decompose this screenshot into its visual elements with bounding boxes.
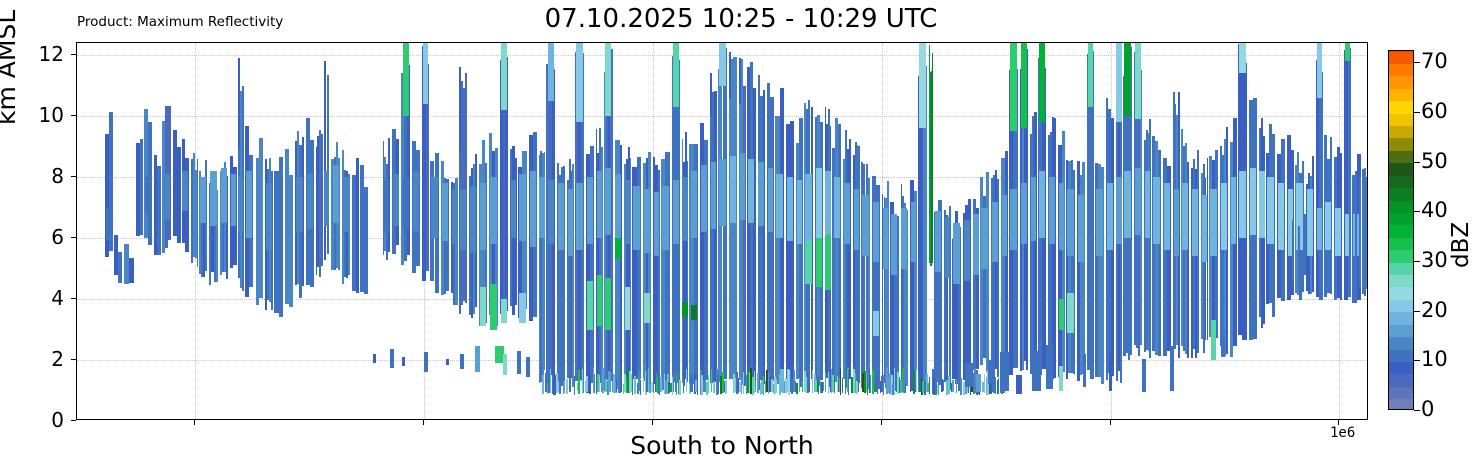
reflectivity-cell bbox=[799, 378, 800, 391]
y-tick-label: 2 bbox=[16, 349, 64, 369]
reflectivity-cell bbox=[1059, 299, 1064, 329]
reflectivity-cell bbox=[842, 378, 844, 393]
y-tick-mark bbox=[71, 176, 76, 177]
reflectivity-cell bbox=[877, 379, 878, 395]
reflectivity-cell bbox=[891, 214, 898, 275]
reflectivity-cell bbox=[324, 61, 326, 137]
reflectivity-cell bbox=[739, 58, 741, 104]
colorbar-tick-mark bbox=[1414, 410, 1420, 411]
reflectivity-cell bbox=[763, 90, 766, 384]
colorbar-tick-label: 0 bbox=[1421, 399, 1434, 420]
reflectivity-cell bbox=[574, 376, 575, 395]
reflectivity-cell bbox=[402, 357, 405, 366]
colorbar-label: dBZ bbox=[1449, 222, 1473, 268]
reflectivity-cell bbox=[1278, 183, 1284, 250]
reflectivity-cell bbox=[683, 375, 684, 393]
reflectivity-cell bbox=[413, 171, 419, 232]
reflectivity-cell bbox=[1124, 171, 1131, 238]
colorbar-tick-mark bbox=[1414, 162, 1420, 163]
reflectivity-cell bbox=[935, 211, 941, 272]
reflectivity-cell bbox=[1325, 202, 1332, 251]
reflectivity-cell bbox=[648, 152, 651, 389]
colorbar-band bbox=[1389, 88, 1413, 101]
reflectivity-cell bbox=[321, 134, 323, 267]
colorbar-band bbox=[1389, 250, 1413, 263]
reflectivity-cell bbox=[1202, 195, 1207, 262]
reflectivity-cell bbox=[644, 189, 650, 253]
reflectivity-cell bbox=[701, 165, 707, 232]
reflectivity-cell bbox=[938, 384, 939, 395]
reflectivity-cell bbox=[992, 202, 998, 263]
reflectivity-cell bbox=[952, 380, 954, 392]
reflectivity-cell bbox=[106, 208, 113, 242]
plot-area bbox=[76, 42, 1368, 420]
reflectivity-cell bbox=[1182, 183, 1189, 250]
colorbar-tick-label: 60 bbox=[1421, 101, 1448, 122]
reflectivity-cell bbox=[168, 106, 171, 240]
colorbar-gradient bbox=[1388, 50, 1414, 410]
reflectivity-cell bbox=[976, 374, 981, 392]
reflectivity-cell bbox=[246, 171, 253, 238]
reflectivity-cell bbox=[1109, 354, 1112, 391]
reflectivity-cell bbox=[327, 75, 330, 254]
reflectivity-cell bbox=[1319, 72, 1322, 300]
reflectivity-cell bbox=[460, 354, 464, 369]
reflectivity-cell bbox=[1054, 118, 1056, 378]
reflectivity-cell bbox=[625, 287, 630, 330]
reflectivity-cell bbox=[470, 186, 477, 253]
reflectivity-cell bbox=[519, 174, 526, 241]
reflectivity-cell bbox=[1317, 43, 1322, 98]
reflectivity-cell bbox=[1164, 183, 1170, 250]
colorbar-band bbox=[1389, 63, 1413, 76]
colorbar-band bbox=[1389, 386, 1413, 399]
reflectivity-cell bbox=[825, 235, 830, 290]
reflectivity-cell bbox=[480, 183, 486, 250]
reflectivity-cell bbox=[854, 189, 859, 250]
x-tick-mark bbox=[652, 420, 653, 425]
reflectivity-cell bbox=[654, 192, 659, 256]
reflectivity-cell bbox=[1239, 43, 1246, 73]
reflectivity-cell bbox=[768, 168, 773, 232]
product-label: Product: Maximum Reflectivity bbox=[77, 14, 283, 30]
colorbar-band bbox=[1389, 212, 1413, 225]
reflectivity-cell bbox=[1292, 220, 1294, 281]
y-tick-label: 12 bbox=[16, 44, 64, 64]
reflectivity-cell bbox=[714, 91, 717, 382]
reflectivity-cell bbox=[988, 360, 995, 384]
reflectivity-cell bbox=[1032, 351, 1041, 391]
reflectivity-cell bbox=[1016, 375, 1022, 393]
reflectivity-cell bbox=[501, 299, 507, 323]
reflectivity-cell bbox=[1345, 43, 1350, 61]
reflectivity-cell bbox=[1250, 168, 1256, 235]
reflectivity-cell bbox=[460, 189, 466, 250]
colorbar-band bbox=[1389, 51, 1413, 64]
colorbar-tick-label: 30 bbox=[1421, 250, 1448, 271]
reflectivity-cell bbox=[465, 73, 467, 303]
colorbar-band bbox=[1389, 188, 1413, 201]
reflectivity-cell bbox=[1304, 214, 1306, 275]
reflectivity-cell bbox=[1116, 43, 1121, 122]
reflectivity-cell bbox=[177, 147, 181, 243]
reflectivity-cell bbox=[364, 187, 368, 294]
reflectivity-cell bbox=[1067, 293, 1074, 333]
reflectivity-cell bbox=[605, 168, 612, 235]
reflectivity-cell bbox=[424, 352, 428, 372]
reflectivity-cell bbox=[662, 186, 669, 250]
reflectivity-cell bbox=[530, 171, 536, 247]
reflectivity-cell bbox=[883, 375, 884, 395]
reflectivity-cell bbox=[805, 238, 812, 284]
reflectivity-cell bbox=[1349, 159, 1351, 293]
colorbar-band bbox=[1389, 101, 1413, 114]
reflectivity-cell bbox=[1142, 359, 1146, 393]
reflectivity-cell bbox=[129, 258, 134, 283]
reflectivity-cell bbox=[919, 43, 926, 128]
reflectivity-cell bbox=[1005, 151, 1008, 367]
reflectivity-cell bbox=[691, 171, 698, 238]
colorbar-band bbox=[1389, 237, 1413, 250]
reflectivity-cell bbox=[1088, 43, 1093, 107]
reflectivity-cell bbox=[981, 208, 988, 269]
colorbar-tick-mark bbox=[1414, 311, 1420, 312]
y-tick-mark bbox=[71, 420, 76, 421]
reflectivity-cell bbox=[568, 189, 573, 256]
reflectivity-cell bbox=[1000, 352, 1009, 390]
colorbar-band bbox=[1389, 324, 1413, 337]
x-axis-offset-label: 1e6 bbox=[1330, 425, 1355, 441]
reflectivity-cell bbox=[805, 174, 812, 241]
reflectivity-cell bbox=[615, 174, 621, 238]
reflectivity-cell bbox=[200, 177, 206, 223]
colorbar-tick-label: 70 bbox=[1421, 51, 1448, 72]
reflectivity-cell bbox=[1116, 177, 1121, 244]
reflectivity-cell bbox=[279, 157, 283, 316]
reflectivity-cell bbox=[373, 354, 376, 363]
reflectivity-cell bbox=[452, 189, 457, 244]
reflectivity-cell bbox=[948, 376, 950, 395]
reflectivity-cell bbox=[118, 252, 122, 283]
colorbar-tick-label: 20 bbox=[1421, 300, 1448, 321]
colorbar-band bbox=[1389, 163, 1413, 176]
reflectivity-cell bbox=[848, 370, 849, 395]
colorbar-band bbox=[1389, 299, 1413, 312]
reflectivity-cell bbox=[1259, 171, 1264, 238]
reflectivity-cell bbox=[1049, 177, 1055, 244]
reflectivity-cell bbox=[1034, 112, 1036, 377]
reflectivity-cell bbox=[910, 380, 911, 391]
reflectivity-cell bbox=[932, 53, 933, 263]
reflectivity-cell bbox=[740, 153, 745, 220]
reflectivity-cell bbox=[1307, 189, 1313, 256]
reflectivity-cell bbox=[753, 88, 756, 385]
reflectivity-cell bbox=[475, 346, 480, 372]
reflectivity-cell bbox=[1124, 43, 1131, 116]
reflectivity-cell bbox=[943, 380, 944, 391]
reflectivity-cell bbox=[403, 43, 410, 116]
reflectivity-cell bbox=[511, 180, 516, 238]
reflectivity-cell bbox=[797, 180, 802, 244]
reflectivity-cell bbox=[384, 180, 389, 232]
reflectivity-cell bbox=[1010, 43, 1017, 131]
reflectivity-cell bbox=[691, 305, 698, 320]
reflectivity-cell bbox=[640, 380, 641, 395]
reflectivity-cell bbox=[548, 43, 555, 101]
reflectivity-cell bbox=[1174, 189, 1179, 256]
y-tick-mark bbox=[71, 54, 76, 55]
reflectivity-cell bbox=[901, 208, 907, 269]
reflectivity-cell bbox=[296, 177, 303, 232]
reflectivity-cell bbox=[589, 374, 590, 394]
reflectivity-cell bbox=[862, 195, 869, 256]
reflectivity-cell bbox=[1106, 98, 1108, 141]
reflectivity-cell bbox=[256, 177, 262, 244]
reflectivity-cell bbox=[1239, 171, 1246, 238]
reflectivity-cell bbox=[717, 375, 719, 394]
y-tick-label: 4 bbox=[16, 288, 64, 308]
reflectivity-cell bbox=[758, 162, 764, 226]
reflectivity-cell bbox=[1267, 177, 1274, 244]
reflectivity-cell bbox=[682, 302, 687, 317]
reflectivity-cell bbox=[597, 275, 602, 327]
reflectivity-cell bbox=[834, 177, 841, 238]
reflectivity-cell bbox=[673, 43, 679, 107]
reflectivity-cell bbox=[1135, 43, 1141, 119]
reflectivity-cell bbox=[587, 177, 593, 244]
reflectivity-cell bbox=[673, 180, 679, 244]
reflectivity-cell bbox=[140, 139, 143, 234]
reflectivity-cell bbox=[653, 383, 655, 393]
reflectivity-cell bbox=[490, 284, 497, 330]
colorbar-tick-mark bbox=[1414, 112, 1420, 113]
reflectivity-cell bbox=[163, 174, 170, 220]
reflectivity-cell bbox=[1021, 183, 1027, 244]
x-tick-mark bbox=[881, 420, 882, 425]
reflectivity-cell bbox=[1059, 183, 1064, 250]
reflectivity-cell bbox=[873, 311, 879, 335]
reflectivity-cell bbox=[1031, 177, 1036, 241]
reflectivity-cell bbox=[772, 97, 774, 381]
colorbar-band bbox=[1389, 274, 1413, 287]
reflectivity-cell bbox=[708, 375, 709, 393]
reflectivity-cell bbox=[423, 43, 428, 104]
x-tick-mark bbox=[1110, 420, 1111, 425]
reflectivity-cell bbox=[905, 383, 906, 393]
reflectivity-cell bbox=[1135, 168, 1141, 235]
reflectivity-cell bbox=[1317, 208, 1322, 251]
reflectivity-cell bbox=[1039, 43, 1046, 122]
reflectivity-cell bbox=[238, 58, 240, 146]
reflectivity-cell bbox=[446, 359, 449, 365]
reflectivity-cell bbox=[490, 177, 497, 244]
colorbar-tick-label: 10 bbox=[1421, 349, 1448, 370]
reflectivity-cell bbox=[953, 223, 960, 284]
colorbar-band bbox=[1389, 113, 1413, 126]
reflectivity-cell bbox=[834, 372, 835, 393]
reflectivity-cell bbox=[634, 376, 636, 394]
colorbar-band bbox=[1389, 312, 1413, 325]
reflectivity-cell bbox=[873, 202, 879, 263]
reflectivity-cell bbox=[679, 380, 681, 395]
reflectivity-cell bbox=[597, 171, 602, 238]
reflectivity-cell bbox=[743, 86, 745, 386]
reflectivity-cell bbox=[145, 177, 151, 214]
reflectivity-cell bbox=[986, 172, 989, 372]
reflectivity-cell bbox=[576, 183, 583, 250]
reflectivity-cell bbox=[1298, 226, 1300, 287]
reflectivity-cell bbox=[1096, 189, 1103, 256]
colorbar bbox=[1388, 50, 1414, 410]
colorbar-band bbox=[1389, 138, 1413, 151]
reflectivity-cell bbox=[442, 183, 448, 241]
reflectivity-cell bbox=[816, 168, 822, 238]
reflectivity-cell bbox=[757, 373, 759, 393]
reflectivity-cell bbox=[686, 369, 688, 393]
reflectivity-cell bbox=[459, 67, 461, 152]
reflectivity-cell bbox=[844, 183, 850, 244]
reflectivity-cell bbox=[743, 372, 744, 394]
reflectivity-cell bbox=[605, 43, 612, 116]
y-tick-mark bbox=[71, 298, 76, 299]
reflectivity-cell bbox=[548, 180, 555, 244]
reflectivity-cell bbox=[587, 281, 593, 330]
reflectivity-cell bbox=[790, 121, 794, 390]
reflectivity-cell bbox=[578, 370, 579, 393]
colorbar-band bbox=[1389, 125, 1413, 138]
reflectivity-cell bbox=[828, 372, 829, 394]
colorbar-tick-mark bbox=[1414, 360, 1420, 361]
reflectivity-cell bbox=[730, 156, 736, 223]
colorbar-tick-mark bbox=[1414, 261, 1420, 262]
reflectivity-cell bbox=[182, 171, 188, 211]
reflectivity-cell bbox=[197, 159, 199, 267]
colorbar-tick-label: 40 bbox=[1421, 200, 1448, 221]
reflectivity-cell bbox=[1046, 345, 1053, 389]
reflectivity-cell bbox=[710, 73, 712, 116]
reflectivity-cell bbox=[1067, 189, 1074, 256]
reflectivity-cell bbox=[776, 174, 783, 238]
reflectivity-cell bbox=[719, 43, 726, 86]
reflectivity-cell bbox=[517, 351, 521, 374]
reflectivity-cell bbox=[858, 378, 859, 391]
reflectivity-cell bbox=[238, 177, 242, 232]
reflectivity-cell bbox=[825, 171, 830, 235]
reflectivity-cell bbox=[711, 162, 716, 229]
reflectivity-cell bbox=[501, 43, 507, 110]
reflectivity-cell bbox=[660, 377, 662, 392]
y-tick-mark bbox=[71, 359, 76, 360]
reflectivity-cell bbox=[480, 287, 486, 327]
reflectivity-cell bbox=[356, 158, 359, 293]
reflectivity-cell bbox=[1059, 366, 1063, 390]
reflectivity-cell bbox=[729, 52, 731, 98]
reflectivity-cell bbox=[1107, 183, 1113, 250]
reflectivity-cell bbox=[644, 293, 650, 323]
y-tick-mark bbox=[71, 237, 76, 238]
reflectivity-cell bbox=[1082, 162, 1085, 374]
reflectivity-cell bbox=[1221, 183, 1227, 250]
reflectivity-cell bbox=[956, 379, 958, 393]
x-axis-label: South to North bbox=[0, 432, 1444, 460]
reflectivity-cell bbox=[733, 57, 737, 393]
colorbar-band bbox=[1389, 399, 1413, 410]
reflectivity-cell bbox=[231, 174, 236, 226]
reflectivity-cell bbox=[221, 168, 227, 223]
reflectivity-cell bbox=[748, 159, 755, 223]
reflectivity-cell bbox=[307, 174, 313, 229]
reflectivity-cell bbox=[1078, 195, 1084, 262]
reflectivity-cell bbox=[210, 171, 217, 226]
reflectivity-cell bbox=[776, 379, 778, 393]
y-tick-mark bbox=[71, 115, 76, 116]
reflectivity-cell bbox=[825, 372, 826, 392]
reflectivity-cell bbox=[883, 208, 888, 269]
reflectivity-cell bbox=[690, 374, 692, 392]
reflectivity-cell bbox=[1335, 208, 1341, 257]
colorbar-band bbox=[1389, 361, 1413, 374]
reflectivity-cell bbox=[1221, 330, 1225, 357]
reflectivity-cell bbox=[1359, 177, 1361, 287]
y-tick-label: 10 bbox=[16, 105, 64, 125]
reflectivity-cell bbox=[1145, 171, 1150, 238]
x-tick-mark bbox=[423, 420, 424, 425]
reflectivity-cell bbox=[799, 118, 802, 387]
x-tick-mark bbox=[1338, 420, 1339, 425]
reflectivity-cell bbox=[1039, 171, 1046, 238]
reflectivity-cell bbox=[849, 139, 851, 379]
colorbar-band bbox=[1389, 337, 1413, 350]
colorbar-band bbox=[1389, 287, 1413, 300]
colorbar-band bbox=[1389, 150, 1413, 163]
reflectivity-cell bbox=[566, 379, 568, 394]
reflectivity-cell bbox=[816, 232, 822, 287]
reflectivity-cell bbox=[973, 214, 978, 275]
reflectivity-cell bbox=[809, 383, 810, 391]
y-tick-label: 8 bbox=[16, 166, 64, 186]
reflectivity-cell bbox=[559, 380, 560, 394]
reflectivity-cell bbox=[393, 174, 399, 226]
reflectivity-cell bbox=[558, 183, 564, 250]
reflectivity-cell bbox=[929, 377, 930, 394]
colorbar-tick-mark bbox=[1414, 62, 1420, 63]
reflectivity-cell bbox=[605, 278, 612, 330]
y-tick-label: 0 bbox=[16, 410, 64, 430]
reflectivity-cell bbox=[1355, 171, 1357, 299]
plot-canvas bbox=[77, 43, 1367, 419]
colorbar-band bbox=[1389, 225, 1413, 238]
colorbar-tick-label: 50 bbox=[1421, 151, 1448, 172]
reflectivity-cell bbox=[1149, 119, 1151, 357]
reflectivity-cell bbox=[796, 383, 798, 394]
reflectivity-cell bbox=[343, 177, 349, 232]
reflectivity-cell bbox=[1192, 189, 1198, 256]
reflectivity-cell bbox=[1021, 43, 1027, 128]
colorbar-band bbox=[1389, 76, 1413, 89]
colorbar-band bbox=[1389, 262, 1413, 275]
colorbar-band bbox=[1389, 349, 1413, 362]
reflectivity-cell bbox=[526, 357, 530, 377]
reflectivity-cell bbox=[1083, 354, 1086, 388]
reflectivity-cell bbox=[157, 166, 160, 255]
reflectivity-cell bbox=[1010, 189, 1017, 250]
reflectivity-cell bbox=[725, 380, 727, 394]
reflectivity-cell bbox=[519, 293, 526, 323]
reflectivity-cell bbox=[569, 372, 571, 392]
reflectivity-cell bbox=[1211, 320, 1216, 360]
reflectivity-cell bbox=[625, 180, 630, 244]
reflectivity-cell bbox=[324, 171, 328, 226]
